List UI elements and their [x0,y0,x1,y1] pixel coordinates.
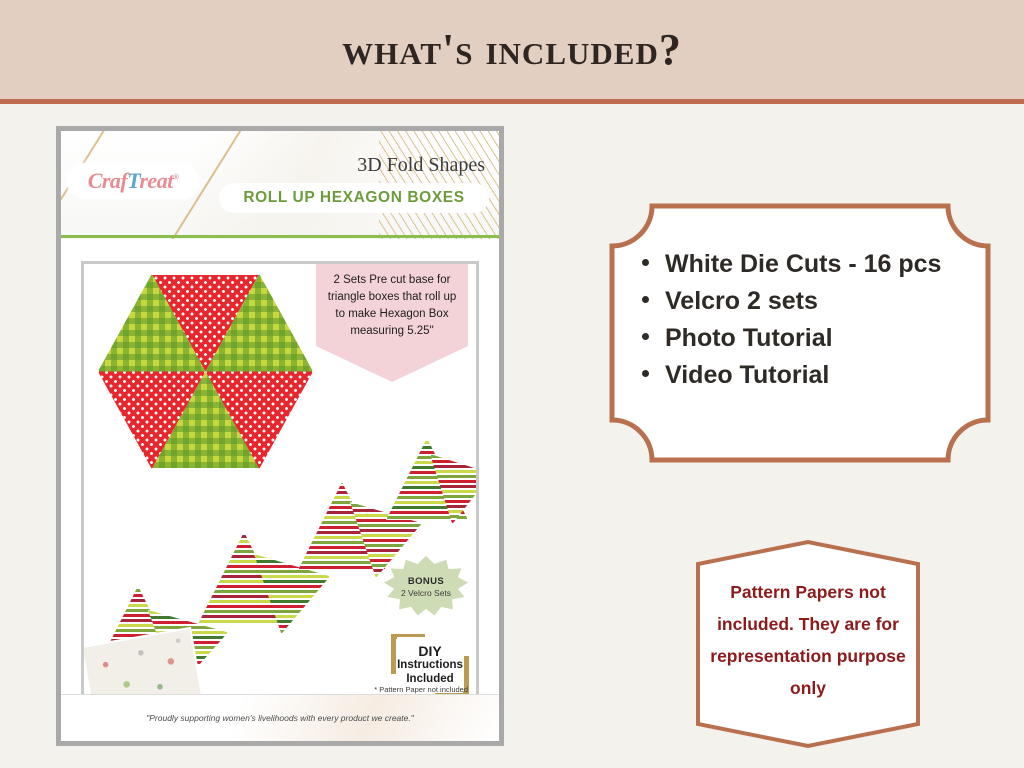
page-title: What's included? [342,24,682,75]
diy-badge-line1: DIY [418,644,441,658]
page-header-band: What's included? [0,0,1024,99]
product-name-pill: ROLL UP HEXAGON BOXES [219,183,489,213]
header-divider-rule [0,99,1024,104]
callout-body: 2 Sets Pre cut base for triangle boxes t… [316,261,468,346]
list-item-label: White Die Cuts - 16 pcs [665,246,941,283]
included-items-list: White Die Cuts - 16 pcs Velcro 2 sets Ph… [642,246,974,394]
package-footer: "Proudly supporting women's livelihoods … [61,694,499,741]
bullet-icon [642,333,649,340]
list-item-label: Video Tutorial [665,357,829,394]
included-items-frame: White Die Cuts - 16 pcs Velcro 2 sets Ph… [608,202,992,464]
note-badge-text: Pattern Papers not included. They are fo… [708,576,908,704]
diy-badge-line3: Included [406,672,453,686]
brand-logo: CrafTreat® [67,163,199,199]
pattern-paper-note-badge: Pattern Papers not included. They are fo… [694,538,922,750]
bonus-badge-title: BONUS [408,576,444,587]
bonus-badge-subtitle: 2 Velcro Sets [401,588,451,598]
bullet-icon [642,296,649,303]
list-item-label: Velcro 2 sets [665,283,818,320]
callout-text: 2 Sets Pre cut base for triangle boxes t… [326,272,458,340]
brand-logo-text: CrafTreat® [88,168,179,194]
pattern-paper-disclaimer: * Pattern Paper not included [374,685,468,694]
list-item: Velcro 2 sets [642,283,974,320]
bullet-icon [642,259,649,266]
callout-point [316,346,468,382]
product-artwork-panel: 2 Sets Pre cut base for triangle boxes t… [81,261,479,701]
list-item: Video Tutorial [642,357,974,394]
bracket-corner [391,634,396,674]
product-package-card: CrafTreat® 3D Fold Shapes ROLL UP HEXAGO… [56,126,504,746]
list-item-label: Photo Tutorial [665,320,833,357]
callout-pennant: 2 Sets Pre cut base for triangle boxes t… [316,261,468,382]
package-footer-text: "Proudly supporting women's livelihoods … [146,713,414,723]
diy-badge-line2: Instructions [397,658,463,672]
package-kicker: 3D Fold Shapes [357,154,485,177]
registered-trademark-icon: ® [173,173,178,182]
list-item: Photo Tutorial [642,320,974,357]
snowflake-pattern-panel [81,627,203,701]
list-item: White Die Cuts - 16 pcs [642,246,974,283]
bullet-icon [642,370,649,377]
green-divider-rule [61,235,499,238]
package-header-area: CrafTreat® 3D Fold Shapes ROLL UP HEXAGO… [61,131,499,239]
product-name-text: ROLL UP HEXAGON BOXES [243,189,464,207]
